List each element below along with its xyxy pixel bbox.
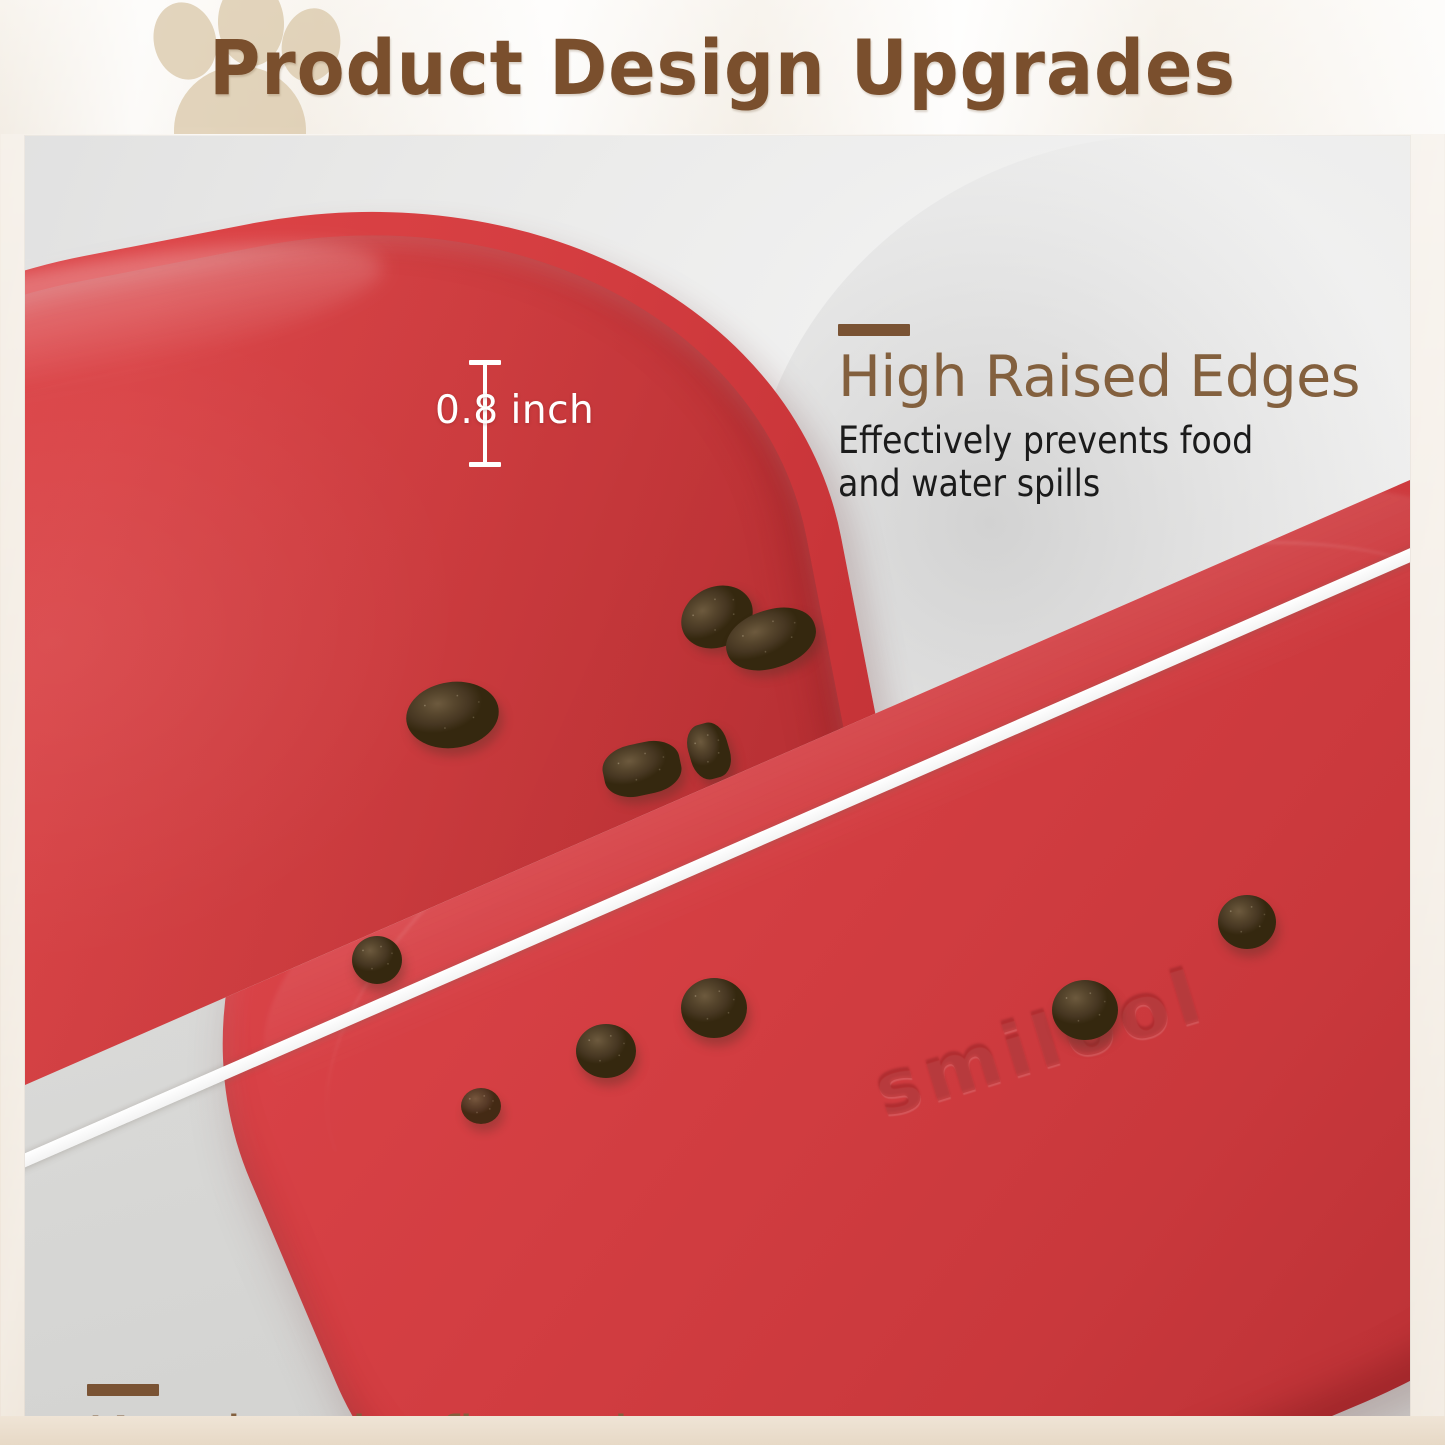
kibble-piece: [1218, 895, 1276, 949]
bottom-background-strip: [0, 1416, 1445, 1445]
kibble-piece: [576, 1024, 636, 1078]
header-banner: Product Design Upgrades: [0, 0, 1445, 134]
callout-heading: High Raised Edges: [838, 348, 1360, 406]
kibble-piece: [352, 936, 402, 984]
accent-dash: [87, 1384, 159, 1396]
dimension-label: 0.8inch: [435, 388, 594, 433]
callout-keeping-floor-clean: Keeping the floor clean Minimizes time s…: [87, 1384, 1032, 1416]
kibble-piece: [681, 978, 747, 1038]
product-photo-panel: 0.8inch smilool Hi: [25, 136, 1410, 1416]
dimension-value: 0.8: [435, 388, 499, 433]
callout-high-raised-edges: High Raised Edges Effectively prevents f…: [838, 324, 1360, 506]
dimension-unit: inch: [511, 388, 595, 433]
kibble-piece: [1052, 980, 1118, 1040]
callout-heading: Keeping the floor clean: [87, 1408, 966, 1416]
callout-subtitle-line1: Effectively prevents food: [838, 420, 1308, 463]
callout-subtitle-line2: and water spills: [838, 463, 1308, 506]
infographic-stage: Product Design Upgrades: [0, 0, 1445, 1445]
page-title: Product Design Upgrades: [58, 0, 1387, 134]
callout-subtitle: Effectively prevents food and water spil…: [838, 420, 1308, 506]
kibble-piece: [461, 1088, 501, 1124]
accent-dash: [838, 324, 910, 336]
